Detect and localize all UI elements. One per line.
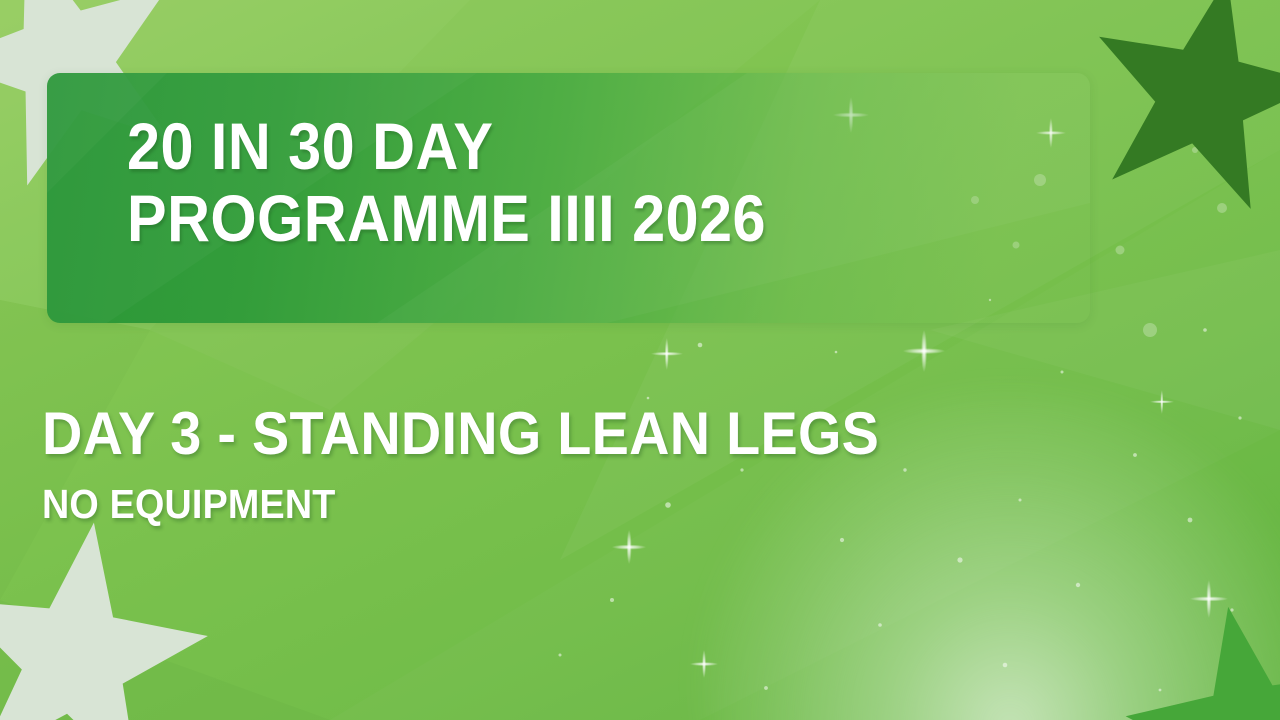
banner-title-line-1: 20 IN 30 DAY <box>127 110 1027 182</box>
banner-title-line-2: PROGRAMME IIII 2026 <box>127 182 1027 254</box>
banner-text-block: 20 IN 30 DAY PROGRAMME IIII 2026 <box>127 110 1127 254</box>
lower-text-block: DAY 3 - STANDING LEAN LEGS NO EQUIPMENT <box>42 403 1272 525</box>
equipment-subheading: NO EQUIPMENT <box>42 483 1174 525</box>
workout-heading: DAY 3 - STANDING LEAN LEGS <box>42 403 1186 465</box>
title-card: 20 IN 30 DAY PROGRAMME IIII 2026 DAY 3 -… <box>0 0 1280 720</box>
